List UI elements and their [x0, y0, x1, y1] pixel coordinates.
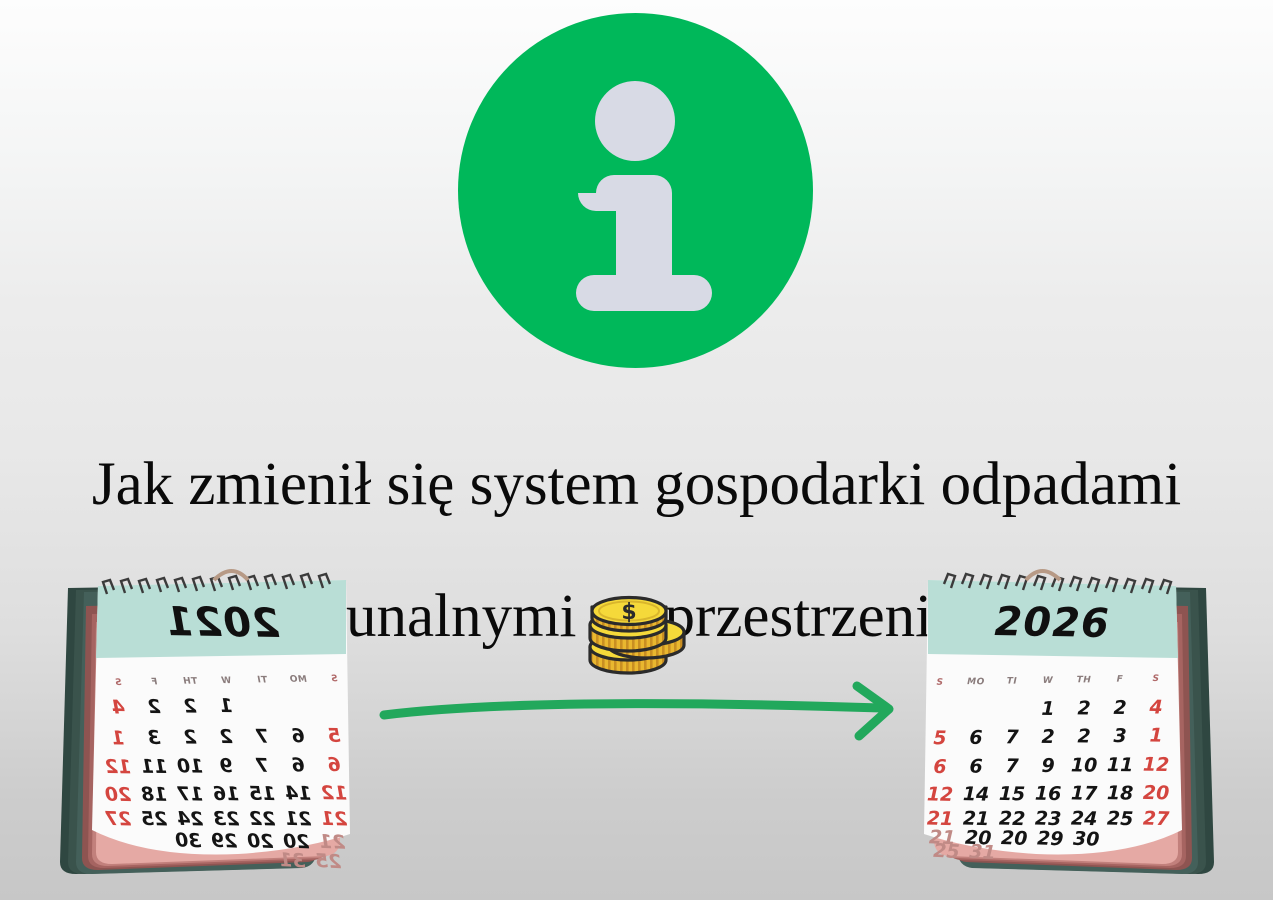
svg-text:15: 15: [249, 783, 276, 806]
svg-text:5: 5: [933, 727, 947, 749]
svg-text:31: 31: [278, 849, 306, 872]
svg-text:1: 1: [1149, 725, 1163, 747]
svg-text:2: 2: [1113, 697, 1127, 719]
svg-text:10: 10: [177, 755, 204, 777]
svg-text:31: 31: [969, 841, 997, 864]
svg-text:S: S: [936, 678, 943, 688]
svg-text:F: F: [150, 677, 157, 687]
svg-text:6: 6: [327, 754, 341, 776]
svg-text:1: 1: [1041, 698, 1055, 720]
svg-text:18: 18: [141, 783, 168, 806]
svg-text:TI: TI: [1007, 677, 1018, 687]
svg-text:2: 2: [183, 695, 197, 717]
coin-top: $: [592, 598, 666, 632]
svg-text:TH: TH: [1077, 675, 1092, 685]
svg-text:2: 2: [219, 726, 233, 748]
svg-text:25: 25: [141, 808, 168, 831]
svg-text:7: 7: [255, 726, 269, 748]
svg-text:22: 22: [249, 808, 276, 831]
svg-text:1: 1: [219, 695, 233, 717]
svg-text:27: 27: [1143, 808, 1171, 831]
svg-text:S: S: [114, 678, 121, 688]
coin-dollar-symbol: $: [621, 600, 636, 625]
svg-text:12: 12: [1143, 754, 1170, 776]
svg-text:20: 20: [105, 784, 132, 807]
svg-text:TI: TI: [257, 675, 268, 685]
svg-text:5: 5: [327, 725, 341, 747]
svg-text:15: 15: [999, 783, 1026, 806]
calendar-year-label: 2026: [994, 599, 1110, 647]
svg-text:2: 2: [147, 696, 161, 718]
svg-text:12: 12: [105, 756, 132, 778]
svg-text:29: 29: [211, 830, 238, 853]
svg-text:6: 6: [291, 754, 305, 776]
svg-text:10: 10: [1071, 754, 1098, 776]
svg-text:16: 16: [1035, 783, 1062, 806]
svg-text:4: 4: [1148, 696, 1163, 718]
svg-text:12: 12: [321, 782, 348, 805]
svg-text:7: 7: [1005, 726, 1019, 748]
svg-text:6: 6: [969, 756, 983, 778]
svg-text:W: W: [220, 676, 231, 686]
svg-text:18: 18: [1107, 782, 1134, 805]
svg-text:W: W: [1043, 676, 1054, 686]
svg-text:20: 20: [1001, 827, 1028, 850]
svg-text:2: 2: [1041, 726, 1055, 748]
svg-text:30: 30: [175, 829, 202, 852]
svg-text:MO: MO: [967, 677, 985, 687]
svg-text:9: 9: [219, 755, 233, 777]
svg-text:27: 27: [104, 808, 132, 831]
svg-text:6: 6: [969, 727, 983, 749]
svg-text:20: 20: [247, 830, 274, 853]
svg-text:11: 11: [1107, 754, 1134, 776]
info-icon-dot: [595, 81, 675, 161]
svg-text:9: 9: [1041, 755, 1055, 777]
svg-text:2: 2: [1077, 697, 1091, 719]
svg-text:TH: TH: [183, 677, 198, 687]
page-title-line-1: Jak zmienił się system gospodarki odpada…: [0, 452, 1273, 518]
svg-text:23: 23: [213, 808, 240, 831]
svg-text:MO: MO: [289, 675, 307, 685]
svg-text:3: 3: [147, 727, 161, 749]
svg-text:14: 14: [963, 783, 990, 806]
calendar-2021: 2021 S MO TI W TH F S 1 2 2: [28, 562, 398, 892]
svg-text:12: 12: [927, 783, 954, 806]
info-icon: [458, 13, 813, 368]
svg-text:29: 29: [1037, 827, 1064, 850]
svg-text:16: 16: [213, 783, 240, 806]
svg-text:6: 6: [291, 725, 305, 747]
svg-text:4: 4: [111, 696, 126, 718]
svg-text:25: 25: [314, 850, 342, 873]
svg-text:2: 2: [1077, 725, 1091, 747]
svg-text:S: S: [1152, 674, 1159, 684]
svg-text:25: 25: [1107, 808, 1134, 831]
svg-text:1: 1: [111, 727, 125, 749]
slide-canvas: Jak zmienił się system gospodarki odpada…: [0, 0, 1273, 900]
coins-stack-icon: $: [578, 590, 690, 690]
svg-text:S: S: [330, 674, 337, 684]
svg-text:7: 7: [1005, 755, 1019, 777]
svg-text:24: 24: [177, 808, 204, 831]
svg-text:17: 17: [1071, 782, 1099, 805]
calendar-year-label: 2021: [164, 599, 280, 647]
svg-text:30: 30: [1073, 828, 1100, 851]
svg-text:11: 11: [141, 756, 168, 778]
svg-text:21: 21: [321, 808, 348, 831]
svg-text:14: 14: [285, 782, 312, 805]
svg-text:7: 7: [255, 755, 269, 777]
calendar-2026: 2026 S MO TI W TH F S 1 2 2 4: [876, 562, 1246, 892]
svg-text:20: 20: [1143, 782, 1170, 805]
svg-text:25: 25: [933, 840, 961, 863]
svg-text:6: 6: [933, 756, 947, 778]
svg-text:2: 2: [183, 726, 197, 748]
arrow-shaft: [384, 704, 882, 715]
svg-text:24: 24: [1071, 808, 1098, 831]
svg-text:3: 3: [1113, 725, 1127, 747]
svg-text:F: F: [1117, 675, 1124, 685]
svg-text:21: 21: [285, 808, 312, 831]
svg-text:17: 17: [176, 783, 204, 806]
